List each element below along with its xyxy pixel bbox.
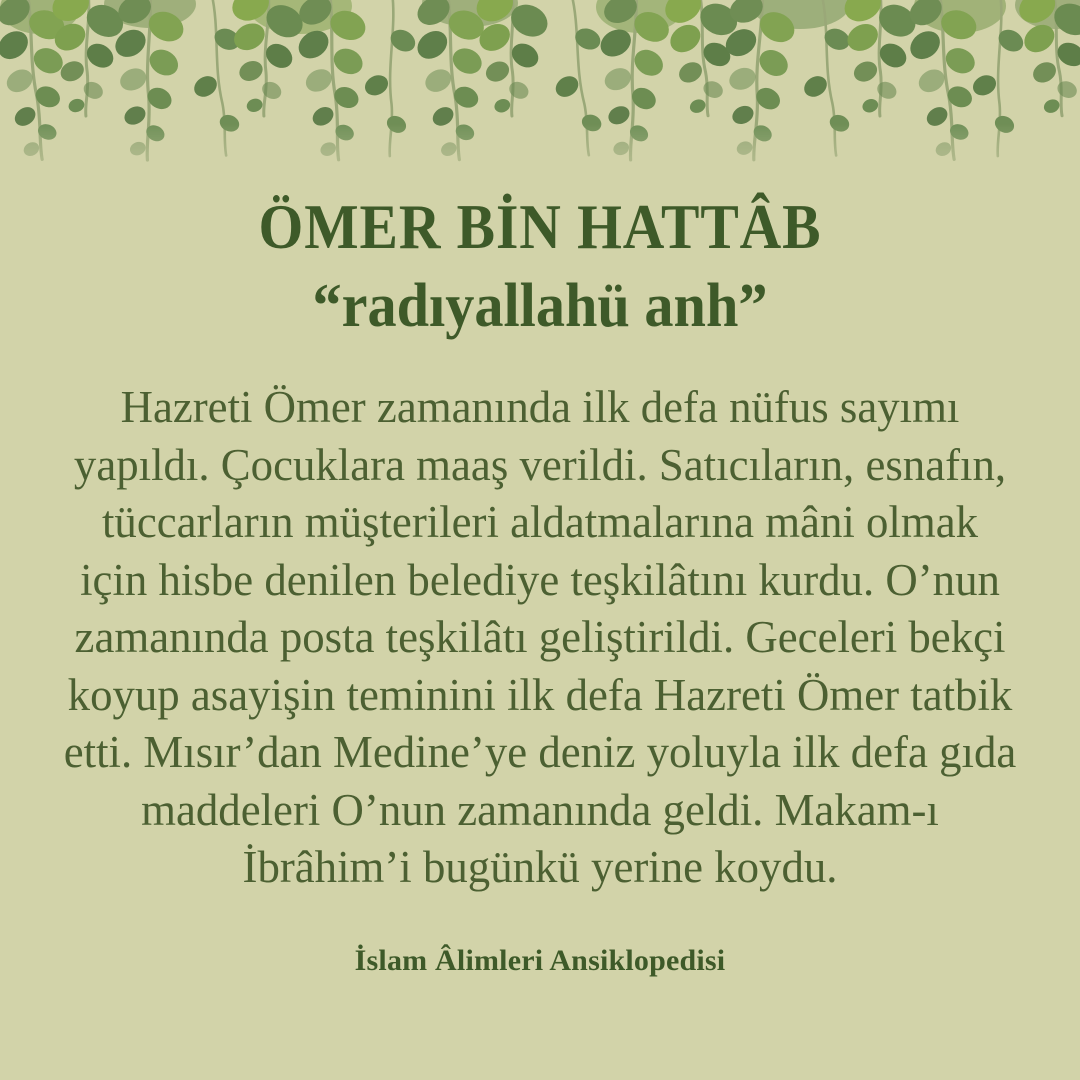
body-line: koyup asayişin teminini ilk defa Hazreti… (53, 666, 1026, 724)
title-block: ÖMER BİN HATTÂB “radıyallahü anh” (42, 192, 1038, 340)
body-line: yapıldı. Çocuklara maaş verildi. Satıcıl… (53, 436, 1026, 494)
card-content: ÖMER BİN HATTÂB “radıyallahü anh” Hazret… (0, 0, 1080, 1080)
body-line: tüccarların müşterileri aldatmalarına mâ… (53, 493, 1026, 551)
source-attribution: İslam Âlimleri Ansiklopedisi (42, 942, 1038, 980)
body-line: Hazreti Ömer zamanında ilk defa nüfus sa… (53, 378, 1026, 436)
body-line: etti. Mısır’dan Medine’ye deniz yoluyla … (53, 723, 1026, 781)
body-line: için hisbe denilen belediye teşkilâtını … (53, 551, 1026, 609)
body-line: maddeleri O’nun zamanında geldi. Makam-ı (53, 781, 1026, 839)
body-line: İbrâhim’i bugünkü yerine koydu. (53, 838, 1026, 896)
quote-body: Hazreti Ömer zamanında ilk defa nüfus sa… (53, 378, 1026, 896)
quote-card: ÖMER BİN HATTÂB “radıyallahü anh” Hazret… (0, 0, 1080, 1080)
page-title: ÖMER BİN HATTÂB (92, 192, 988, 262)
title-honorific: “radıyallahü anh” (72, 272, 1008, 340)
body-line: zamanında posta teşkilâtı geliştirildi. … (53, 608, 1026, 666)
